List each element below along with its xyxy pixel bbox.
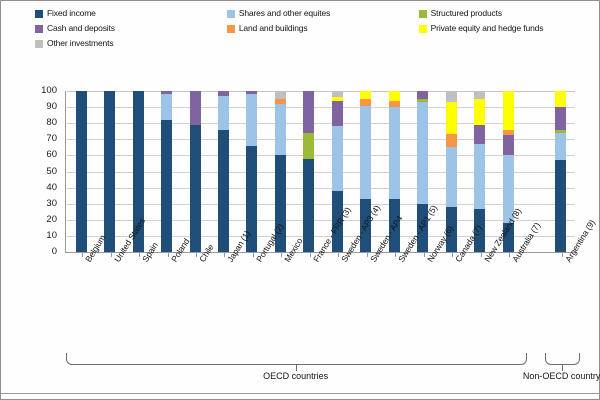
bar-segment[interactable] xyxy=(446,102,457,134)
x-tick-mark xyxy=(424,253,425,257)
bar-segment[interactable] xyxy=(474,125,485,144)
bar-segment[interactable] xyxy=(190,91,201,125)
bar-segment[interactable] xyxy=(190,125,201,252)
bar-segment[interactable] xyxy=(161,94,172,120)
legend-swatch-icon xyxy=(227,25,235,33)
y-axis-line xyxy=(65,91,66,253)
legend-label: Cash and deposits xyxy=(47,24,115,33)
y-tick-label: 40 xyxy=(27,183,57,193)
bar-segment[interactable] xyxy=(303,91,314,133)
group-label: Non-OECD country xyxy=(502,371,600,382)
x-tick-mark xyxy=(481,253,482,257)
bar-segment[interactable] xyxy=(332,126,343,190)
bar-segment[interactable] xyxy=(303,133,314,159)
group-brace xyxy=(545,353,579,365)
legend-item-fixed-income[interactable]: Fixed income xyxy=(35,9,227,18)
legend-item-shares-and-other-equites[interactable]: Shares and other equites xyxy=(227,9,419,18)
stacked-bar[interactable] xyxy=(555,91,566,252)
bar-segment[interactable] xyxy=(104,91,115,252)
legend-swatch-icon xyxy=(419,25,427,33)
y-axis: 0102030405060708090100 xyxy=(27,85,61,258)
bar-segment[interactable] xyxy=(503,91,514,130)
x-tick-mark xyxy=(310,253,311,257)
bar-slot xyxy=(181,91,209,252)
stacked-bar[interactable] xyxy=(104,91,115,252)
legend-item-land-and-buildings[interactable]: Land and buildings xyxy=(227,24,419,33)
y-tick-label: 0 xyxy=(27,247,57,257)
x-tick-mark xyxy=(338,253,339,257)
bar-segment[interactable] xyxy=(389,107,400,199)
legend-row: Other investments xyxy=(35,39,585,48)
x-tick-mark xyxy=(111,253,112,257)
group-brace xyxy=(66,353,527,365)
y-tick-label: 10 xyxy=(27,231,57,241)
bar-segment[interactable] xyxy=(503,135,514,156)
x-tick-mark xyxy=(224,253,225,257)
x-tick-mark xyxy=(367,253,368,257)
chart-frame: Fixed incomeShares and other equitesStru… xyxy=(0,0,600,400)
x-tick-mark xyxy=(395,253,396,257)
y-tick-label: 100 xyxy=(27,86,57,96)
bar-slot xyxy=(209,91,237,252)
legend-swatch-icon xyxy=(35,25,43,33)
legend-label: Shares and other equites xyxy=(239,9,330,18)
x-tick-mark xyxy=(139,253,140,257)
stacked-bar[interactable] xyxy=(303,91,314,252)
y-tick-label: 50 xyxy=(27,167,57,177)
x-tick-mark xyxy=(281,253,282,257)
bar-segment[interactable] xyxy=(555,160,566,252)
bar-slot xyxy=(295,91,323,252)
legend-label: Land and buildings xyxy=(239,24,308,33)
y-tick-label: 90 xyxy=(27,102,57,112)
group-brace-stem xyxy=(562,364,563,371)
y-tick-label: 60 xyxy=(27,150,57,160)
x-tick-mark xyxy=(82,253,83,257)
y-tick-label: 30 xyxy=(27,199,57,209)
stacked-bar[interactable] xyxy=(161,91,172,252)
stacked-bar[interactable] xyxy=(246,91,257,252)
bar-segment[interactable] xyxy=(218,96,229,130)
bar-segment[interactable] xyxy=(446,91,457,102)
bar-segment[interactable] xyxy=(446,134,457,147)
legend-swatch-icon xyxy=(35,40,43,48)
stacked-bar[interactable] xyxy=(76,91,87,252)
bar-segment[interactable] xyxy=(303,159,314,252)
legend-label: Private equity and hedge funds xyxy=(431,24,544,33)
legend-swatch-icon xyxy=(419,10,427,18)
y-tick-label: 20 xyxy=(27,215,57,225)
legend-swatch-icon xyxy=(35,10,43,18)
x-tick-mark xyxy=(253,253,254,257)
bar-segment[interactable] xyxy=(474,91,485,99)
x-tick-mark xyxy=(562,253,563,257)
bar-segment[interactable] xyxy=(555,91,566,107)
legend-row: Cash and depositsLand and buildingsPriva… xyxy=(35,24,585,33)
bar-segment[interactable] xyxy=(474,99,485,125)
bar-segment[interactable] xyxy=(417,102,428,203)
plot-area xyxy=(67,91,575,252)
bar-segment[interactable] xyxy=(275,91,286,99)
legend-item-private-equity-and-hedge-funds[interactable]: Private equity and hedge funds xyxy=(419,24,585,33)
y-tick-label: 80 xyxy=(27,118,57,128)
bar-segment[interactable] xyxy=(555,133,566,160)
legend-item-cash-and-deposits[interactable]: Cash and deposits xyxy=(35,24,227,33)
legend-item-other-investments[interactable]: Other investments xyxy=(35,39,231,48)
stacked-bar[interactable] xyxy=(218,91,229,252)
bar-segment[interactable] xyxy=(474,144,485,208)
bar-slot xyxy=(238,91,266,252)
stacked-bar[interactable] xyxy=(190,91,201,252)
y-tick-label: 70 xyxy=(27,134,57,144)
bar-segment[interactable] xyxy=(332,101,343,127)
x-tick-mark xyxy=(509,253,510,257)
group-brace-stem xyxy=(296,364,297,371)
chart-legend: Fixed incomeShares and other equitesStru… xyxy=(35,9,585,73)
x-tick-mark xyxy=(168,253,169,257)
group-label: OECD countries xyxy=(236,371,356,382)
x-axis-labels: BelgiumUnited StatesSpainPolandChileJapa… xyxy=(67,257,575,349)
legend-label: Structured products xyxy=(431,9,502,18)
bar-slot xyxy=(95,91,123,252)
bar-segment[interactable] xyxy=(218,130,229,252)
bar-slot xyxy=(546,91,574,252)
bar-segment[interactable] xyxy=(360,106,371,199)
legend-swatch-icon xyxy=(227,10,235,18)
bottom-rule xyxy=(1,393,600,394)
x-tick-mark xyxy=(196,253,197,257)
bar-slot xyxy=(152,91,180,252)
legend-row: Fixed incomeShares and other equitesStru… xyxy=(35,9,585,18)
x-tick-mark xyxy=(452,253,453,257)
bar-series-container xyxy=(67,91,575,252)
bar-segment[interactable] xyxy=(161,120,172,252)
bar-segment[interactable] xyxy=(76,91,87,252)
bar-slot xyxy=(67,91,95,252)
bar-segment[interactable] xyxy=(417,91,428,99)
bar-segment[interactable] xyxy=(389,91,400,101)
bar-segment[interactable] xyxy=(555,107,566,130)
legend-item-structured-products[interactable]: Structured products xyxy=(419,9,585,18)
bar-segment[interactable] xyxy=(360,91,371,99)
bar-segment[interactable] xyxy=(446,147,457,207)
legend-label: Other investments xyxy=(47,39,113,48)
bar-segment[interactable] xyxy=(246,94,257,146)
bar-segment[interactable] xyxy=(275,104,286,156)
legend-label: Fixed income xyxy=(47,9,96,18)
